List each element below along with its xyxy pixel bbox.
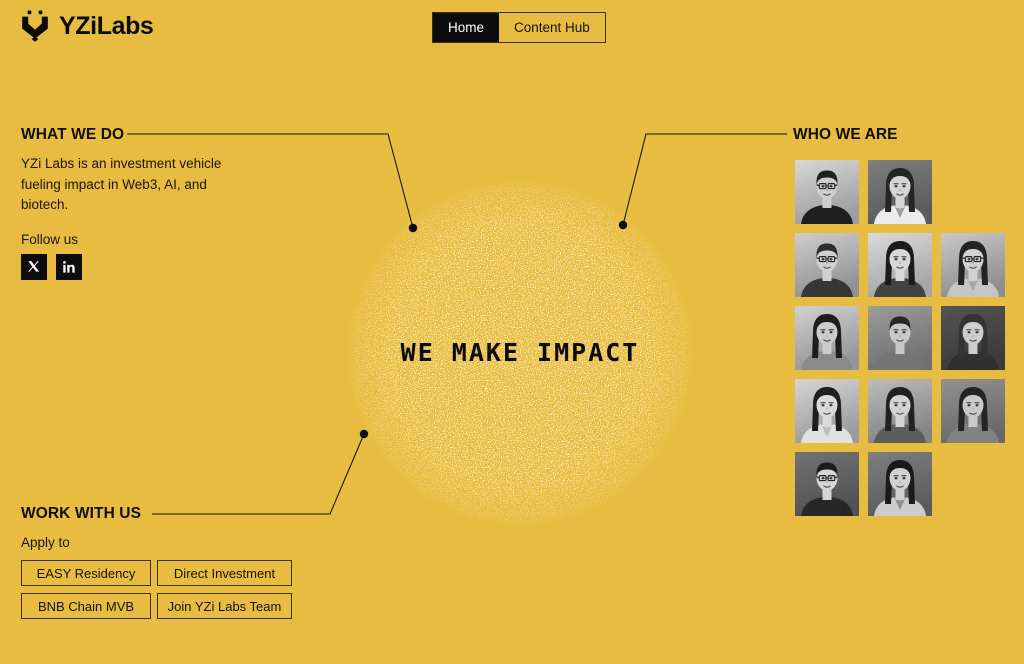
brand-logo[interactable]: YZiLabs bbox=[20, 10, 153, 42]
what-we-do-paragraph: YZi Labs is an investment vehicle fuelin… bbox=[21, 154, 226, 216]
team-member-portrait-5[interactable] bbox=[941, 233, 1005, 297]
apply-button-grid: EASY Residency Direct Investment BNB Cha… bbox=[21, 560, 351, 619]
page-root: YZiLabs Home Content Hub bbox=[0, 0, 1024, 664]
apply-to-label: Apply to bbox=[21, 535, 351, 550]
team-photo-row bbox=[795, 160, 1015, 224]
team-photo-grid bbox=[795, 160, 1015, 516]
section-what-we-do: WHAT WE DO YZi Labs is an investment veh… bbox=[21, 126, 351, 280]
x-twitter-icon[interactable] bbox=[21, 254, 47, 280]
team-member-portrait-2[interactable] bbox=[868, 160, 932, 224]
apply-button-easy-residency[interactable]: EASY Residency bbox=[21, 560, 151, 586]
team-member-portrait-9[interactable] bbox=[795, 379, 859, 443]
nav-item-content-hub[interactable]: Content Hub bbox=[499, 13, 605, 42]
brand-name: YZiLabs bbox=[59, 14, 153, 39]
team-member-portrait-8[interactable] bbox=[941, 306, 1005, 370]
team-photo-row bbox=[795, 306, 1015, 370]
main-nav: Home Content Hub bbox=[432, 12, 606, 43]
team-member-portrait-3[interactable] bbox=[795, 233, 859, 297]
what-we-do-heading: WHAT WE DO bbox=[21, 126, 351, 143]
team-member-portrait-4[interactable] bbox=[868, 233, 932, 297]
team-photo-row bbox=[795, 452, 1015, 516]
team-member-portrait-12[interactable] bbox=[795, 452, 859, 516]
apply-button-direct-investment[interactable]: Direct Investment bbox=[157, 560, 292, 586]
yzi-monogram-icon bbox=[20, 10, 50, 42]
team-member-portrait-6[interactable] bbox=[795, 306, 859, 370]
work-with-us-heading: WORK WITH US bbox=[21, 505, 351, 522]
section-who-we-are: WHO WE ARE bbox=[793, 126, 898, 143]
team-member-portrait-10[interactable] bbox=[868, 379, 932, 443]
team-photo-row bbox=[795, 379, 1015, 443]
section-work-with-us: WORK WITH US Apply to EASY Residency Dir… bbox=[21, 505, 351, 619]
team-member-portrait-13[interactable] bbox=[868, 452, 932, 516]
team-member-portrait-7[interactable] bbox=[868, 306, 932, 370]
nav-item-home[interactable]: Home bbox=[433, 13, 499, 42]
linkedin-icon[interactable] bbox=[56, 254, 82, 280]
social-links bbox=[21, 254, 351, 280]
hero-headline: WE MAKE IMPACT bbox=[345, 340, 695, 365]
site-header: YZiLabs Home Content Hub bbox=[0, 0, 1024, 56]
apply-button-join-yzi-labs-team[interactable]: Join YZi Labs Team bbox=[157, 593, 292, 619]
team-member-portrait-1[interactable] bbox=[795, 160, 859, 224]
team-photo-row bbox=[795, 233, 1015, 297]
who-we-are-heading: WHO WE ARE bbox=[793, 126, 898, 143]
apply-button-bnb-chain-mvb[interactable]: BNB Chain MVB bbox=[21, 593, 151, 619]
team-member-portrait-11[interactable] bbox=[941, 379, 1005, 443]
follow-us-label: Follow us bbox=[21, 232, 351, 247]
